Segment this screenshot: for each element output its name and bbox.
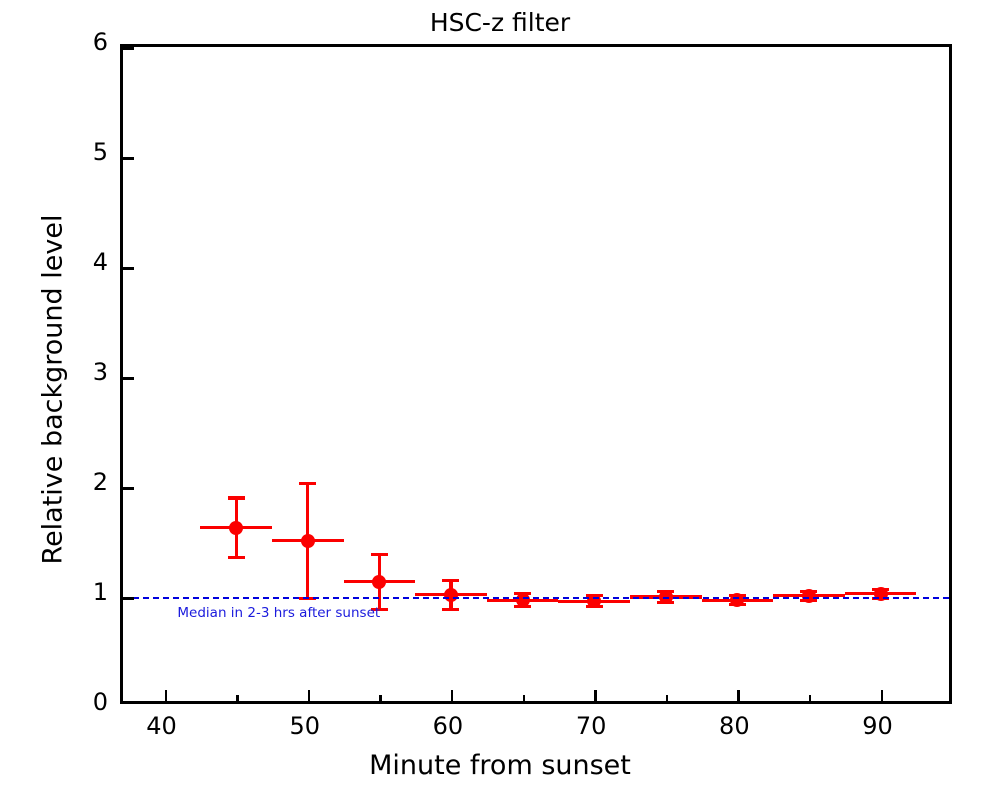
x-tick-label-70: 70 [551,712,631,740]
data-point-marker [229,521,243,535]
x-tick-label-60: 60 [408,712,488,740]
plot-area: Median in 2-3 hrs after sunset [120,44,952,704]
y-tick-3 [123,377,134,380]
data-point-marker [516,593,530,607]
x-tick-label-80: 80 [694,712,774,740]
y-tick-1 [123,597,134,600]
y-tick-6 [123,47,134,50]
y-tick-label-6: 6 [48,28,108,56]
x-tick-minor-85 [809,695,812,701]
x-tick-70 [594,690,597,701]
x-tick-40 [165,690,168,701]
y-error-cap [299,482,316,485]
chart-figure: HSC-z filter Median in 2-3 hrs after sun… [0,0,1000,800]
y-axis-label: Relative background level [38,180,69,600]
median-reference-line [123,597,949,599]
x-tick-label-50: 50 [265,712,345,740]
x-tick-minor-65 [523,695,526,701]
x-tick-minor-55 [379,695,382,701]
y-tick-label-5: 5 [48,138,108,166]
data-point-marker [301,534,315,548]
x-tick-minor-45 [236,695,239,701]
y-tick-5 [123,157,134,160]
data-point-marker [802,589,816,603]
median-reference-label: Median in 2-3 hrs after sunset [177,605,380,621]
y-error-cap [371,553,388,556]
x-tick-60 [451,690,454,701]
y-tick-4 [123,267,134,270]
x-tick-90 [881,690,884,701]
x-tick-minor-75 [666,695,669,701]
y-error-cap [228,496,245,499]
y-error-cap [442,579,459,582]
x-tick-label-40: 40 [122,712,202,740]
chart-title: HSC-z filter [0,8,1000,37]
y-error-cap [228,556,245,559]
y-tick-2 [123,487,134,490]
data-point-marker [444,588,458,602]
y-error-cap [442,608,459,611]
data-point-marker [372,575,386,589]
x-tick-label-90: 90 [838,712,918,740]
x-axis-label: Minute from sunset [0,750,1000,781]
y-tick-label-0: 0 [48,688,108,716]
x-tick-50 [308,690,311,701]
x-tick-80 [737,690,740,701]
